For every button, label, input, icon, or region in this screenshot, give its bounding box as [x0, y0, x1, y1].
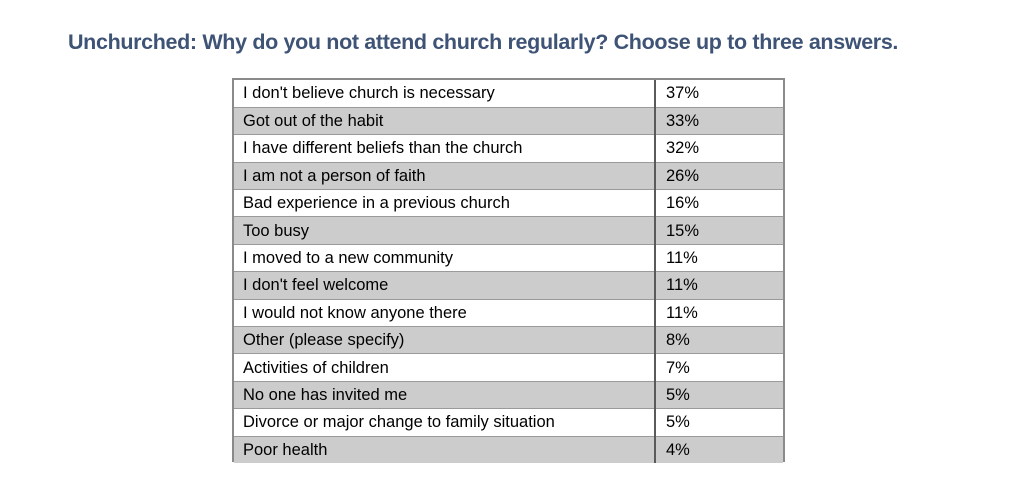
reason-percent: 16%: [655, 190, 783, 217]
table-row: No one has invited me 5%: [234, 381, 783, 408]
reason-label: I am not a person of faith: [234, 162, 655, 189]
table-row: I would not know anyone there 11%: [234, 299, 783, 326]
reason-label: I have different beliefs than the church: [234, 135, 655, 162]
reason-label: Bad experience in a previous church: [234, 190, 655, 217]
table-row: I am not a person of faith 26%: [234, 162, 783, 189]
results-table-container: I don't believe church is necessary 37% …: [232, 78, 785, 462]
page-title: Unchurched: Why do you not attend church…: [68, 28, 968, 56]
table-row: Bad experience in a previous church 16%: [234, 190, 783, 217]
reason-percent: 11%: [655, 299, 783, 326]
reason-percent: 8%: [655, 327, 783, 354]
reason-percent: 11%: [655, 244, 783, 271]
reason-label: Too busy: [234, 217, 655, 244]
table-row: I moved to a new community 11%: [234, 244, 783, 271]
reason-label: No one has invited me: [234, 381, 655, 408]
reason-label: Poor health: [234, 436, 655, 463]
reason-percent: 32%: [655, 135, 783, 162]
reason-label: Other (please specify): [234, 327, 655, 354]
table-row: Divorce or major change to family situat…: [234, 409, 783, 436]
reason-label: Divorce or major change to family situat…: [234, 409, 655, 436]
reason-percent: 26%: [655, 162, 783, 189]
table-row: I don't believe church is necessary 37%: [234, 80, 783, 107]
reason-label: Got out of the habit: [234, 107, 655, 134]
reason-percent: 5%: [655, 409, 783, 436]
results-table: I don't believe church is necessary 37% …: [234, 80, 783, 463]
reason-label: I would not know anyone there: [234, 299, 655, 326]
table-row: Activities of children 7%: [234, 354, 783, 381]
table-row: Poor health 4%: [234, 436, 783, 463]
table-row: I don't feel welcome 11%: [234, 272, 783, 299]
reason-label: I don't believe church is necessary: [234, 80, 655, 107]
reason-percent: 5%: [655, 381, 783, 408]
results-table-body: I don't believe church is necessary 37% …: [234, 80, 783, 463]
reason-percent: 33%: [655, 107, 783, 134]
reason-percent: 4%: [655, 436, 783, 463]
reason-percent: 15%: [655, 217, 783, 244]
table-row: Got out of the habit 33%: [234, 107, 783, 134]
reason-label: I don't feel welcome: [234, 272, 655, 299]
reason-label: I moved to a new community: [234, 244, 655, 271]
reason-percent: 37%: [655, 80, 783, 107]
table-row: Too busy 15%: [234, 217, 783, 244]
table-row: I have different beliefs than the church…: [234, 135, 783, 162]
table-row: Other (please specify) 8%: [234, 327, 783, 354]
reason-label: Activities of children: [234, 354, 655, 381]
reason-percent: 7%: [655, 354, 783, 381]
reason-percent: 11%: [655, 272, 783, 299]
chart-page: Unchurched: Why do you not attend church…: [0, 0, 1024, 495]
